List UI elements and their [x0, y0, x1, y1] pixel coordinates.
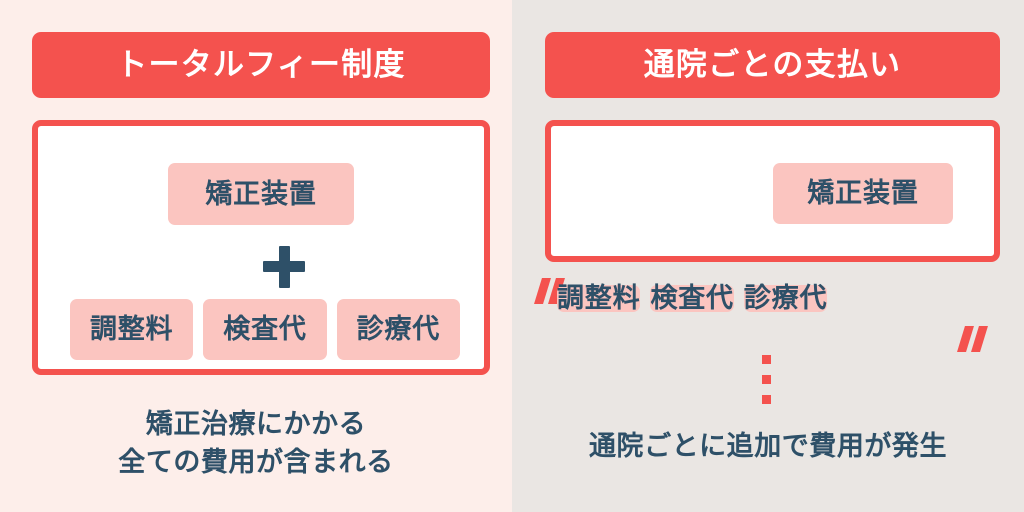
- cost-box-total-fee: 矯正装置 調整料 検査代 診療代: [32, 120, 490, 375]
- plus-icon: [261, 244, 307, 290]
- tag-orthodontic-device: 矯正装置: [168, 163, 354, 225]
- comparison-infographic: トータルフィー制度 矯正装置 調整料 検査代 診療代 矯正治療にかかる 全ての費…: [0, 0, 1024, 512]
- cost-box-per-visit: 矯正装置: [545, 120, 1000, 262]
- caption-line-1: 矯正治療にかかる: [0, 406, 512, 444]
- caption-line-2: 全ての費用が含まれる: [0, 444, 512, 482]
- tag-adjustment-fee: 調整料: [557, 285, 640, 312]
- fee-tag-row-included: 調整料 検査代 診療代: [70, 299, 460, 360]
- caption-per-visit: 通院ごとに追加で費用が発生: [512, 428, 1024, 466]
- separator-dot: [762, 395, 771, 404]
- caption-line-1: 通院ごとに追加で費用が発生: [512, 428, 1024, 466]
- dotted-separator-icon: [762, 355, 771, 404]
- tag-examination-fee: 検査代: [650, 285, 733, 312]
- tag-treatment-fee: 診療代: [337, 299, 460, 360]
- panel-header-total-fee: トータルフィー制度: [32, 32, 490, 98]
- fee-tag-row-additional: 調整料 検査代 診療代: [557, 285, 947, 312]
- separator-dot: [762, 355, 771, 364]
- panel-per-visit-payment: 通院ごとの支払い 矯正装置 調整料 検査代 診療代 通院ごとに追加で費用が発生: [512, 0, 1024, 512]
- separator-dot: [762, 375, 771, 384]
- panel-total-fee: トータルフィー制度 矯正装置 調整料 検査代 診療代 矯正治療にかかる 全ての費…: [0, 0, 512, 512]
- panel-header-per-visit: 通院ごとの支払い: [545, 32, 1000, 98]
- tag-treatment-fee: 診療代: [744, 285, 827, 312]
- tag-orthodontic-device: 矯正装置: [773, 163, 953, 224]
- caption-total-fee: 矯正治療にかかる 全ての費用が含まれる: [0, 406, 512, 483]
- quote-close-icon: [959, 326, 989, 352]
- tag-adjustment-fee: 調整料: [70, 299, 193, 360]
- tag-examination-fee: 検査代: [203, 299, 326, 360]
